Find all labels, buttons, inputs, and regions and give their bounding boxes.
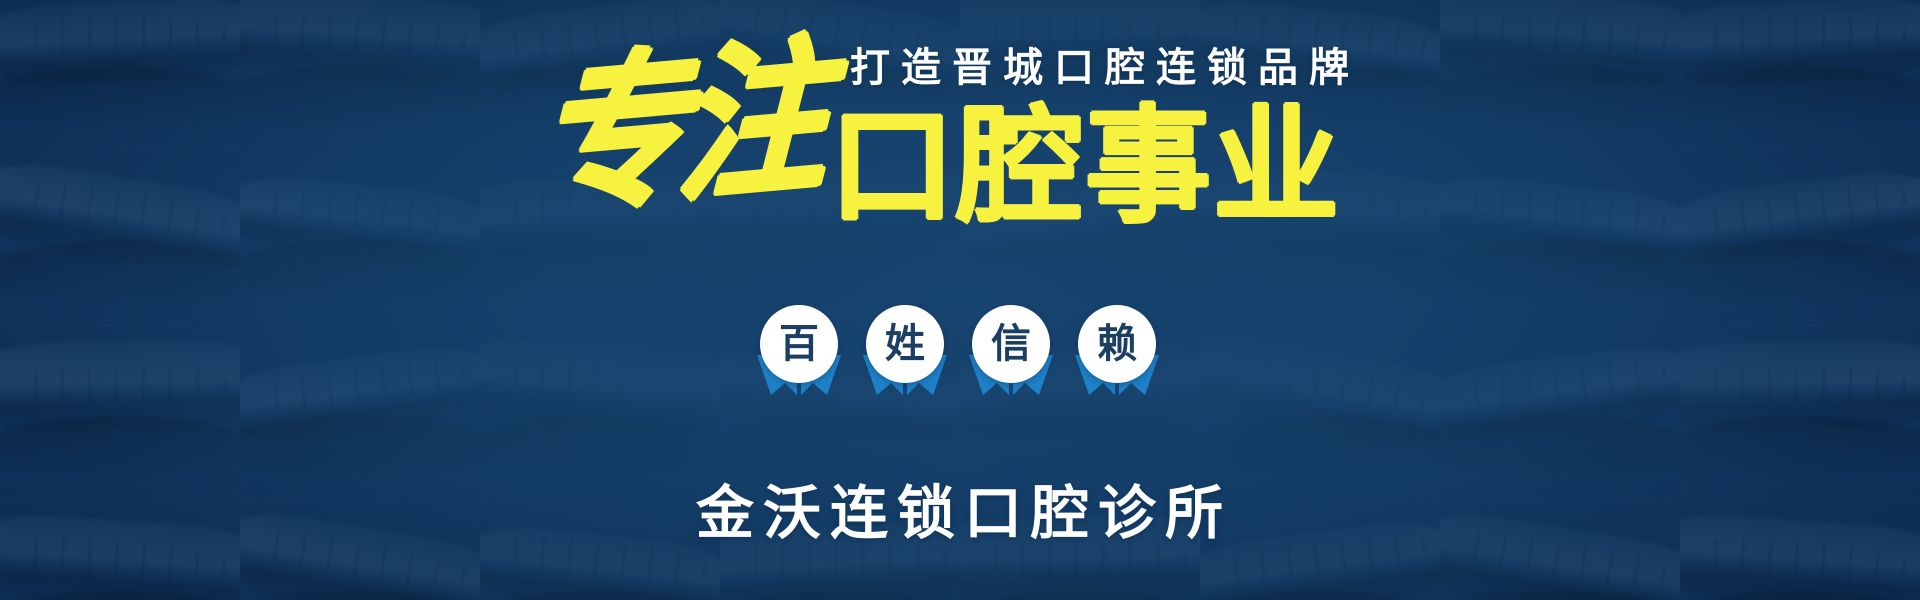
trust-badge: 姓 (866, 305, 944, 383)
trust-badge: 信 (972, 305, 1050, 383)
badge-circle: 姓 (866, 305, 944, 383)
badge-character: 姓 (885, 324, 925, 364)
headline-brush-text: 专注 (535, 38, 820, 222)
badge-circle: 赖 (1078, 305, 1156, 383)
badge-character: 信 (991, 324, 1031, 364)
trust-badge: 赖 (1078, 305, 1156, 383)
trust-badge: 百 (760, 305, 838, 383)
headline-bold-text: 口腔事业 (829, 104, 1341, 230)
badge-character: 赖 (1097, 324, 1137, 364)
badge-circle: 信 (972, 305, 1050, 383)
banner-headline: 专注 口腔事业 (535, 78, 1341, 238)
badge-character: 百 (779, 324, 819, 364)
badge-circle: 百 (760, 305, 838, 383)
banner-content: 打造晋城口腔连锁品牌 专注 口腔事业 百 (0, 0, 1920, 600)
clinic-name: 金沃连锁口腔诊所 (696, 485, 1232, 543)
trust-badge-row: 百 姓 信 (760, 305, 1156, 383)
dental-clinic-banner: 打造晋城口腔连锁品牌 专注 口腔事业 百 (0, 0, 1920, 600)
